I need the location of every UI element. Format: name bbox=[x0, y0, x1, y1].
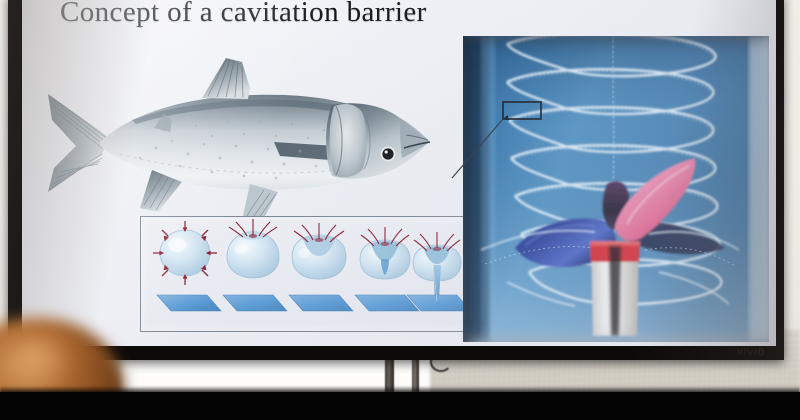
foreground-dark-band bbox=[0, 392, 800, 420]
monitor-brand-logo: VIVID bbox=[728, 346, 774, 358]
bezel-sheen bbox=[8, 0, 784, 360]
screenshot-scene: Concept of a cavitation barrier bbox=[0, 0, 800, 420]
display-monitor: Concept of a cavitation barrier bbox=[8, 0, 784, 360]
